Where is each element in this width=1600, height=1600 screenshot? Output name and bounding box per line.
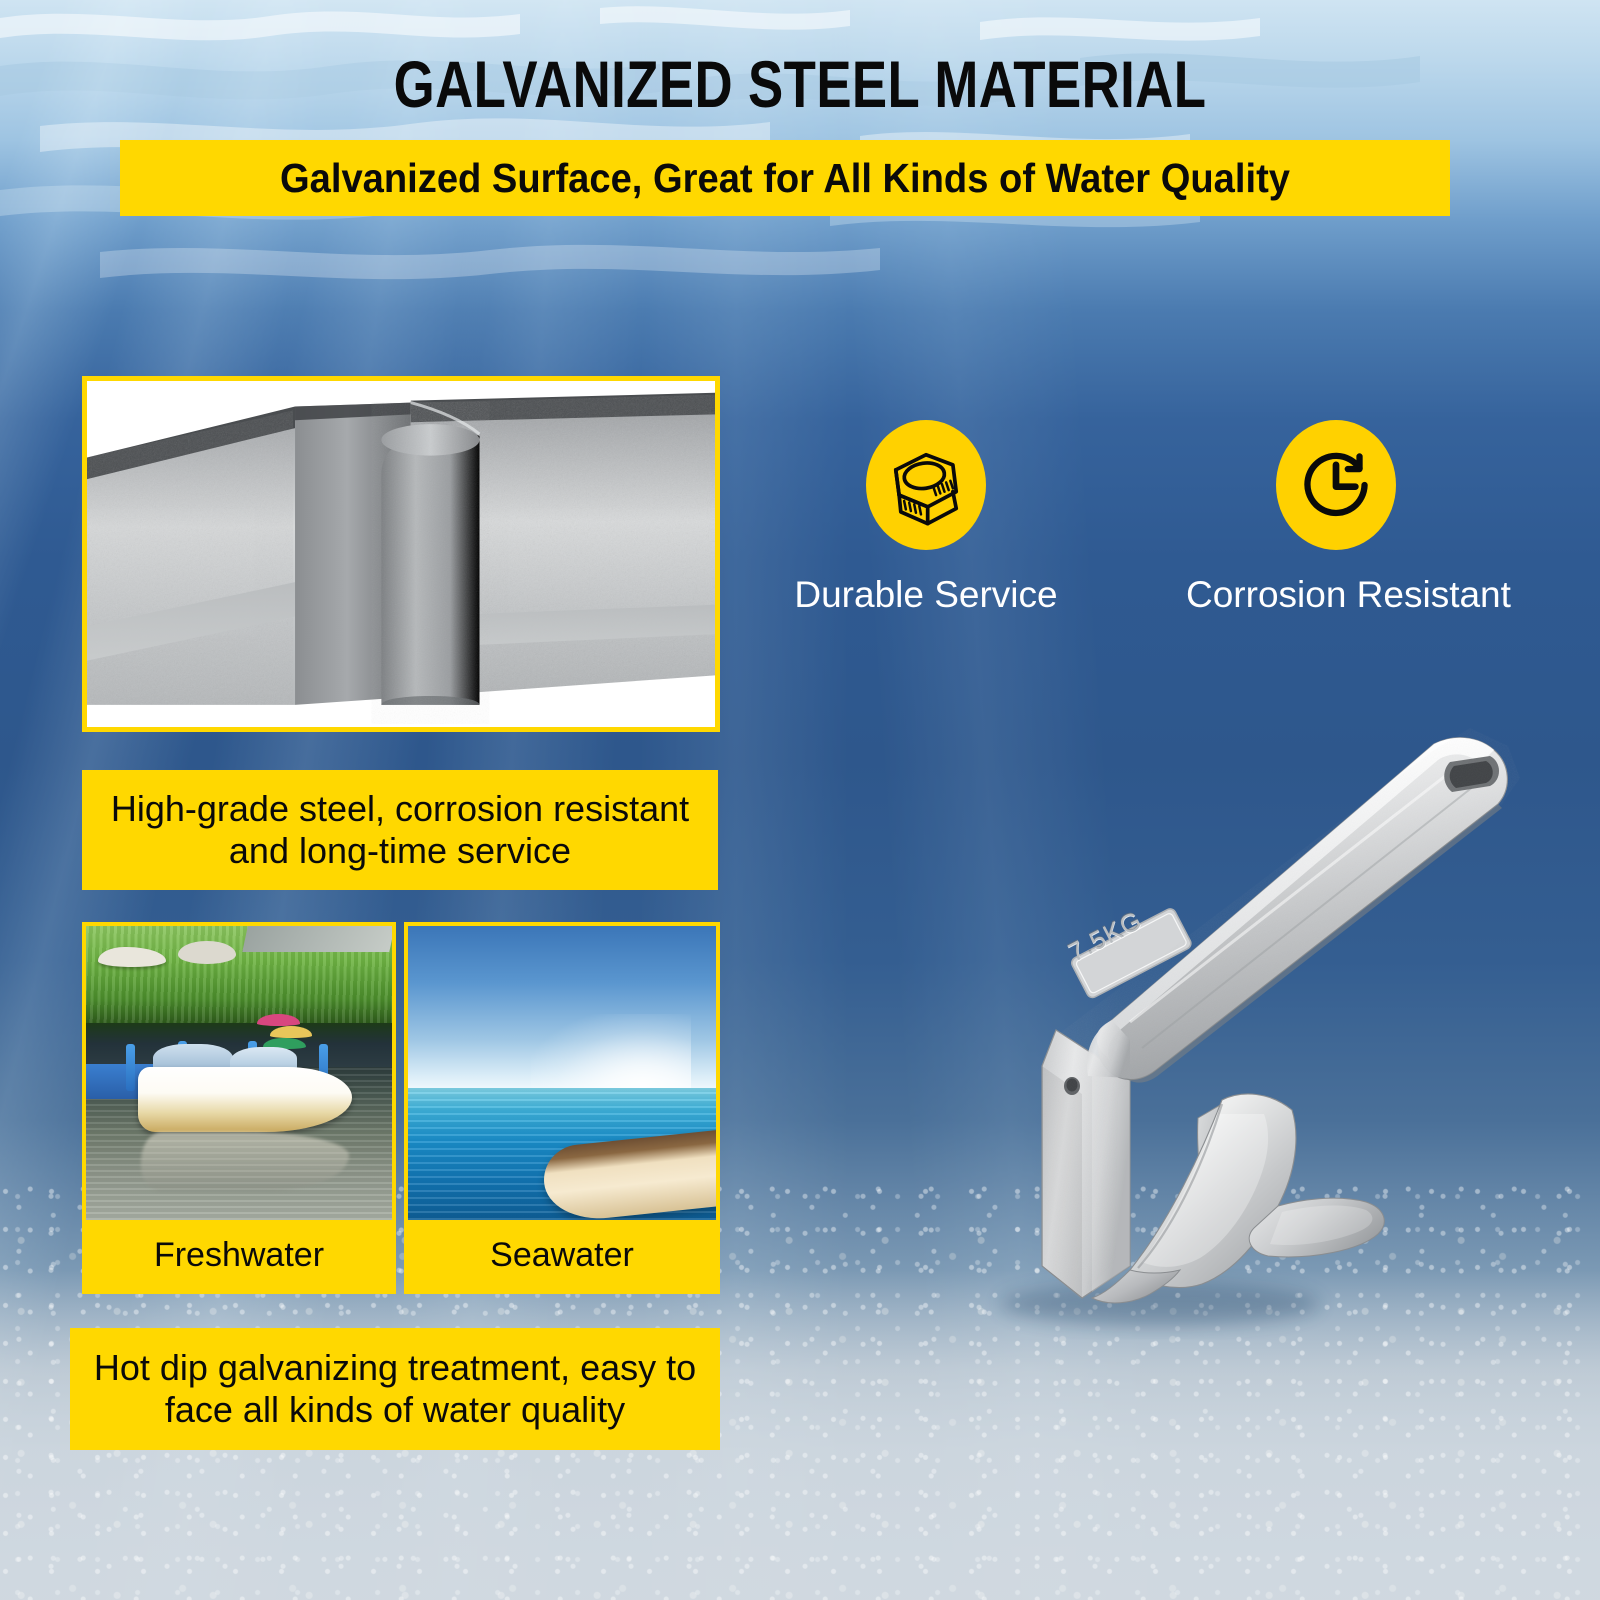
durable-service-badge [866, 420, 986, 550]
steel-closeup-panel [82, 376, 720, 732]
galvanized-claw-anchor: 7.5KG [830, 700, 1570, 1340]
steel-caption: High-grade steel, corrosion resistant an… [82, 770, 718, 890]
freshwater-marina-photo [86, 926, 392, 1220]
bottom-caption: Hot dip galvanizing treatment, easy to f… [70, 1328, 720, 1450]
clock-arrow-icon [1294, 443, 1378, 527]
seawater-card: Seawater [404, 922, 720, 1294]
seawater-label: Seawater [408, 1220, 716, 1290]
anchor-illustration [830, 700, 1570, 1340]
hex-nut-icon [884, 443, 968, 527]
freshwater-card: Freshwater [82, 922, 396, 1294]
durable-service-label: Durable Service [776, 574, 1076, 616]
subtitle-text: Galvanized Surface, Great for All Kinds … [280, 155, 1290, 202]
infographic-page: GALVANIZED STEEL MATERIAL Galvanized Sur… [0, 0, 1600, 1600]
corrosion-resistant-badge [1276, 420, 1396, 550]
freshwater-label: Freshwater [86, 1220, 392, 1290]
seawater-ocean-photo [408, 926, 716, 1220]
corrosion-resistant-label: Corrosion Resistant [1186, 574, 1486, 616]
feature-corrosion-resistant: Corrosion Resistant [1186, 420, 1486, 616]
subtitle-banner: Galvanized Surface, Great for All Kinds … [120, 140, 1450, 216]
galvanized-steel-closeup [87, 381, 715, 724]
page-title: GALVANIZED STEEL MATERIAL [160, 46, 1440, 122]
feature-durable-service: Durable Service [776, 420, 1076, 616]
